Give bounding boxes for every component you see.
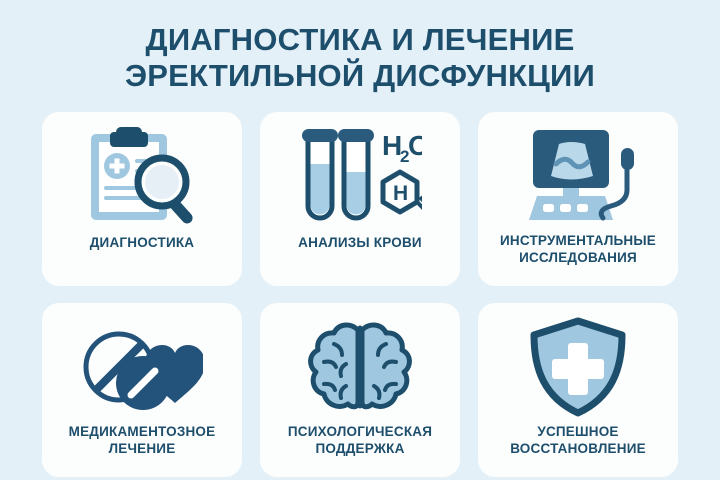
page-title: ДИАГНОСТИКА И ЛЕЧЕНИЕ ЭРЕКТИЛЬНОЙ ДИСФУН… xyxy=(0,22,720,94)
card-diagnostics[interactable]: ДИАГНОСТИКА xyxy=(42,112,242,286)
card-label-medication-treatment: МЕДИКАМЕНТОЗНОЕ ЛЕЧЕНИЕ xyxy=(63,423,222,457)
card-label-diagnostics: ДИАГНОСТИКА xyxy=(84,234,201,251)
brain-icon xyxy=(296,315,424,419)
card-instrumental-studies[interactable]: ИНСТРУМЕНТАЛЬНЫЕ ИССЛЕДОВАНИЯ xyxy=(478,112,678,286)
title-line-1: ДИАГНОСТИКА И ЛЕЧЕНИЕ xyxy=(0,22,720,58)
clipboard-magnifier-icon xyxy=(78,124,206,228)
card-blood-tests[interactable]: H 2 O H АНАЛИЗЫ КРОВИ xyxy=(260,112,460,286)
infographic-page: ДИАГНОСТИКА И ЛЕЧЕНИЕ ЭРЕКТИЛЬНОЙ ДИСФУН… xyxy=(0,0,720,480)
card-psychological-support[interactable]: ПСИХОЛОГИЧЕСКАЯ ПОДДЕРЖКА xyxy=(260,303,460,477)
hexagon-letter: H xyxy=(393,182,408,205)
card-medication-treatment[interactable]: МЕДИКАМЕНТОЗНОЕ ЛЕЧЕНИЕ xyxy=(42,303,242,477)
test-tubes-icon: H 2 O H xyxy=(296,124,424,228)
shield-cross-icon xyxy=(514,315,642,419)
pills-heart-icon xyxy=(78,315,206,419)
h2o-oxygen: O xyxy=(408,130,422,161)
card-label-successful-recovery: УСПЕШНОЕ ВОССТАНОВЛЕНИЕ xyxy=(504,423,652,457)
cards-grid: ДИАГНОСТИКА xyxy=(42,112,678,460)
title-line-2: ЭРЕКТИЛЬНОЙ ДИСФУНКЦИИ xyxy=(0,58,720,94)
card-label-psychological-support: ПСИХОЛОГИЧЕСКАЯ ПОДДЕРЖКА xyxy=(282,423,438,457)
card-successful-recovery[interactable]: УСПЕШНОЕ ВОССТАНОВЛЕНИЕ xyxy=(478,303,678,477)
ultrasound-machine-icon xyxy=(514,124,642,228)
card-label-instrumental-studies: ИНСТРУМЕНТАЛЬНЫЕ ИССЛЕДОВАНИЯ xyxy=(494,232,662,266)
card-label-blood-tests: АНАЛИЗЫ КРОВИ xyxy=(292,234,428,251)
